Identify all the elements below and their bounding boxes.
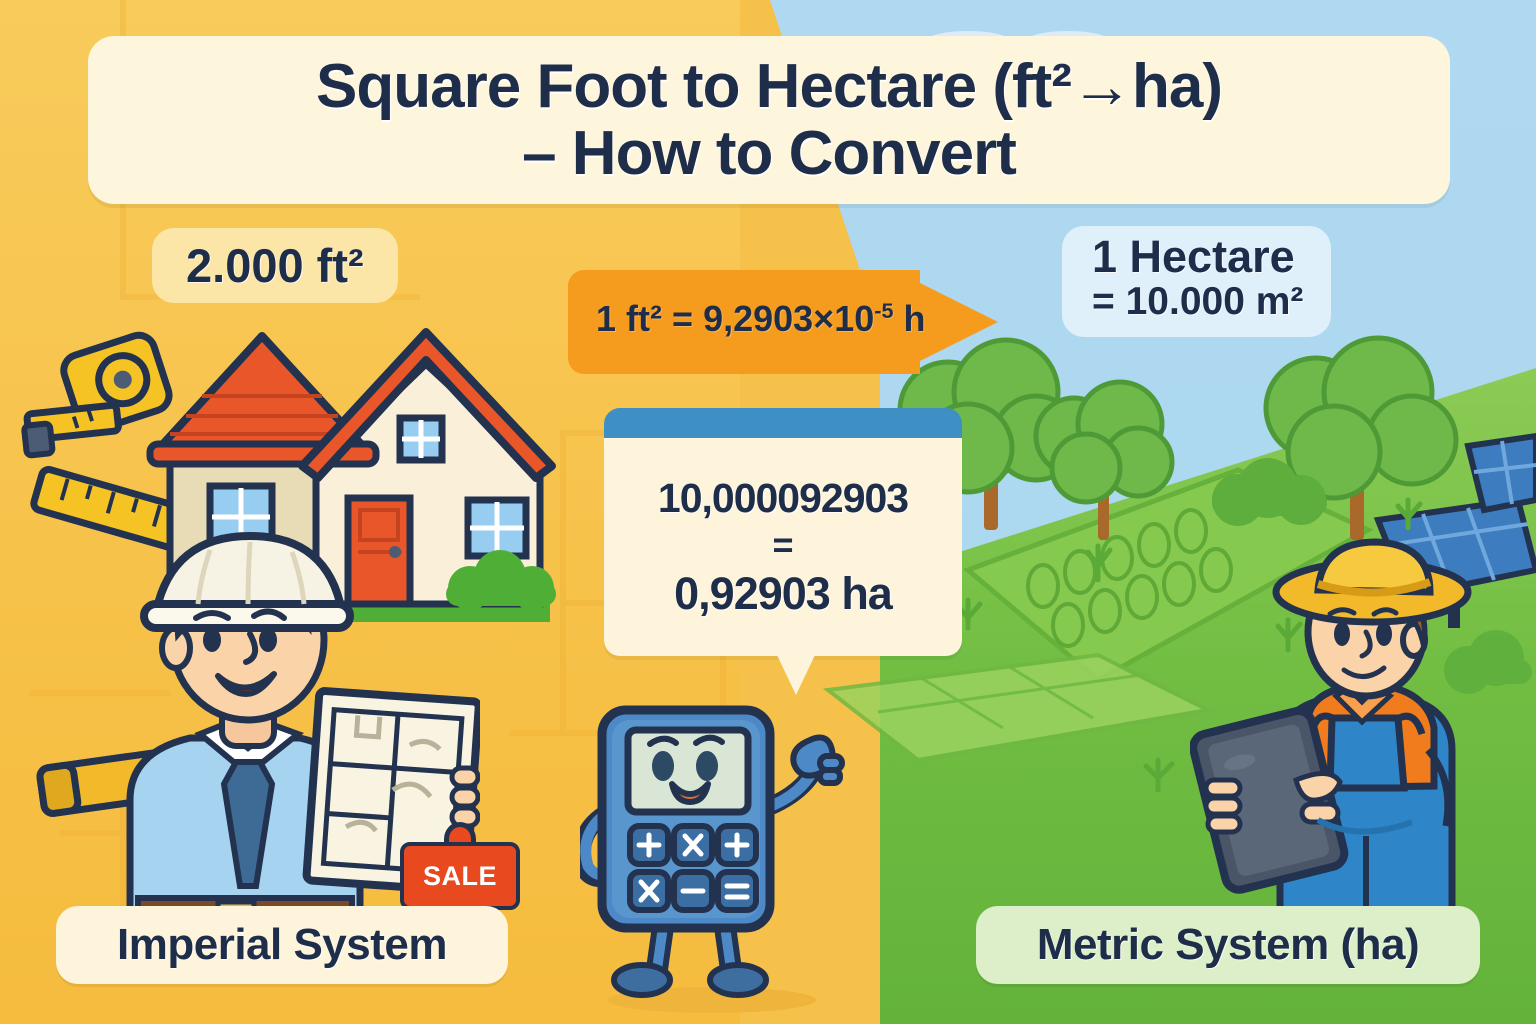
- imperial-value-badge: 2.000 ft²: [152, 228, 398, 303]
- conversion-formula-text: 1 ft² = 9,2903×10-5 h: [596, 298, 925, 340]
- conversion-arrow: 1 ft² = 9,2903×10-5 h: [568, 258, 998, 386]
- calculator-character: [580, 700, 870, 1020]
- formula-unit: h: [903, 298, 925, 339]
- solar-panel-icon: [1468, 436, 1536, 510]
- formula-base: 10: [834, 298, 874, 339]
- bubble-body: 10,000092903 = 0,92903 ha: [604, 438, 962, 656]
- metric-system-text: Metric System (ha): [1037, 920, 1419, 970]
- metric-value-badge: 1 Hectare = 10.000 m²: [1062, 226, 1331, 337]
- farmer-character: [1190, 536, 1510, 936]
- imperial-system-label: Imperial System: [56, 906, 508, 984]
- formula-coefficient: 9,2903: [703, 298, 813, 339]
- metric-value-line-1: 1 Hectare: [1092, 234, 1303, 281]
- imperial-system-text: Imperial System: [117, 920, 447, 970]
- metric-value-line-2: = 10.000 m²: [1092, 281, 1303, 323]
- result-speech-bubble: 10,000092903 = 0,92903 ha: [604, 408, 962, 680]
- formula-equals: =: [672, 298, 693, 339]
- title-line-1: Square Foot to Hectare (ft²→ha): [316, 55, 1222, 118]
- result-equals: =: [772, 524, 793, 566]
- formula-exponent: -5: [874, 298, 893, 323]
- bubble-tail: [776, 653, 816, 695]
- metric-system-label: Metric System (ha): [976, 906, 1480, 984]
- bubble-header-bar: [604, 408, 962, 442]
- title-line-2: – How to Convert: [522, 122, 1016, 185]
- result-numerator: 10,000092903: [658, 475, 908, 522]
- result-value: 0,92903 ha: [674, 568, 892, 620]
- formula-lead: 1 ft²: [596, 298, 662, 339]
- sale-tag: SALE: [400, 842, 520, 910]
- page-title: Square Foot to Hectare (ft²→ha) – How to…: [88, 36, 1450, 204]
- sale-tag-label: SALE: [423, 861, 497, 892]
- infographic-canvas: Square Foot to Hectare (ft²→ha) – How to…: [0, 0, 1536, 1024]
- formula-times: ×: [813, 298, 834, 339]
